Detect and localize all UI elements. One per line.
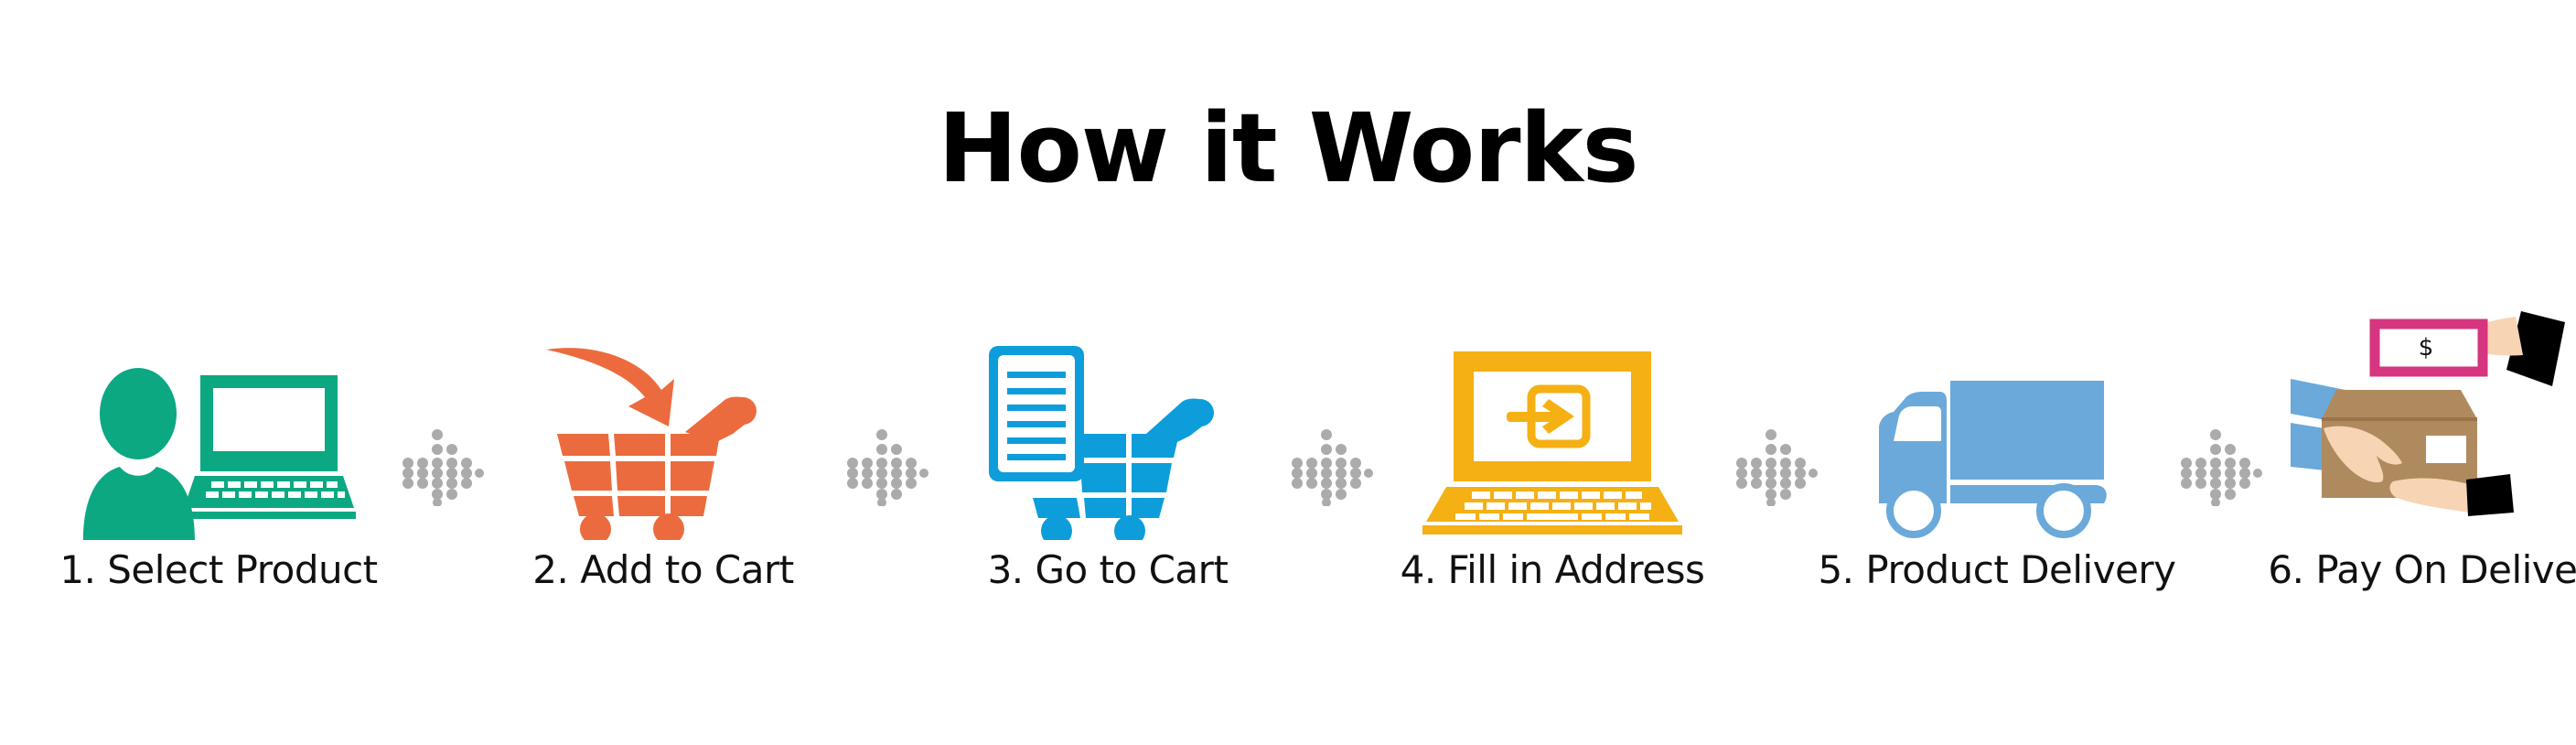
document-with-cart-icon — [985, 342, 1230, 540]
step-1-icon-wrap — [46, 302, 392, 540]
box-lid — [2322, 390, 2477, 419]
dotted-arrow-right-icon — [1731, 427, 1819, 506]
hands-exchanging-box-and-cash-icon: $ — [2291, 302, 2576, 531]
steps-strip: 1. Select Product — [46, 302, 2530, 632]
separator-1 — [392, 302, 490, 632]
step-5-icon-wrap — [1824, 302, 2170, 540]
step-2-label: 2. Add to Cart — [532, 547, 793, 592]
step-2-icon-wrap — [490, 302, 836, 540]
page-title: How it Works — [0, 101, 2576, 196]
step-4-icon-wrap — [1379, 302, 1725, 540]
delivery-truck-icon — [1855, 372, 2139, 540]
dotted-arrow-right-icon — [2175, 427, 2263, 506]
separator-2 — [836, 302, 935, 632]
person-with-laptop-icon — [81, 357, 356, 540]
banknote-dollar-symbol: $ — [2419, 334, 2434, 362]
step-4-label: 4. Fill in Address — [1401, 547, 1705, 592]
step-1-select-product[interactable]: 1. Select Product — [46, 302, 392, 632]
laptop-with-login-arrow-icon — [1415, 346, 1690, 540]
step-2-add-to-cart[interactable]: 2. Add to Cart — [490, 302, 836, 632]
sleeve-black-lower — [2466, 474, 2514, 516]
dotted-arrow-right-icon — [842, 427, 929, 506]
how-it-works-infographic: How it Works — [0, 0, 2576, 745]
separator-5 — [2170, 302, 2269, 632]
step-3-icon-wrap — [935, 302, 1281, 540]
box-seam — [2322, 417, 2477, 421]
dotted-arrow-right-icon — [397, 427, 485, 506]
separator-4 — [1725, 302, 1824, 632]
shopping-cart-with-arrow-icon — [541, 342, 786, 540]
step-6-label: 6. Pay On Delivery — [2268, 547, 2576, 592]
step-4-fill-in-address[interactable]: 4. Fill in Address — [1379, 302, 1725, 632]
separator-3 — [1281, 302, 1379, 632]
step-3-go-to-cart[interactable]: 3. Go to Cart — [935, 302, 1281, 632]
hand-lower-right — [2390, 479, 2472, 513]
step-6-pay-on-delivery[interactable]: $ — [2269, 302, 2576, 632]
step-6-icon-wrap: $ — [2269, 302, 2576, 540]
step-1-label: 1. Select Product — [59, 547, 377, 592]
step-3-label: 3. Go to Cart — [988, 547, 1229, 592]
box-shipping-label — [2426, 436, 2466, 463]
step-5-product-delivery[interactable]: 5. Product Delivery — [1824, 302, 2170, 632]
dotted-arrow-right-icon — [1286, 427, 1374, 506]
step-5-label: 5. Product Delivery — [1818, 547, 2175, 592]
